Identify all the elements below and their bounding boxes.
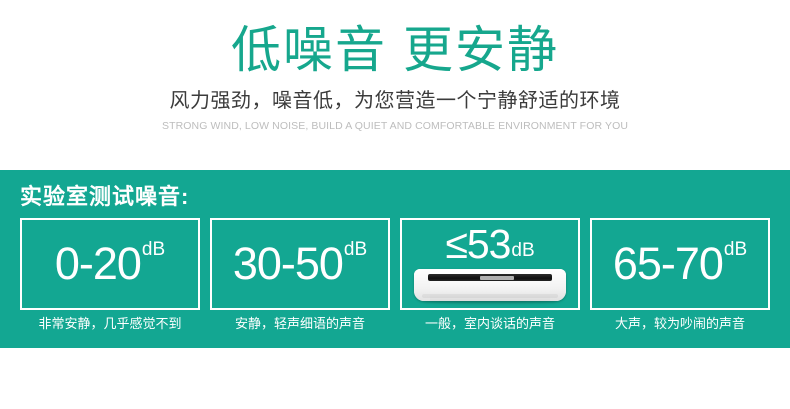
noise-value-group: ≤53 dB <box>445 221 534 267</box>
banner-title: 实验室测试噪音: <box>20 182 189 212</box>
noise-caption: 一般，室内谈话的声音 <box>425 315 555 333</box>
noise-unit: dB <box>344 238 367 262</box>
noise-caption: 非常安静，几乎感觉不到 <box>38 315 181 333</box>
noise-value-group: 65-70 dB <box>613 236 747 292</box>
noise-value-group: 0-20 dB <box>55 236 165 292</box>
device-air-vent <box>422 294 558 298</box>
noise-value: 0-20 <box>55 236 141 292</box>
noise-level-card-list: 0-20 dB 非常安静，几乎感觉不到 30-50 dB 安静，轻声细语的声音 <box>20 218 770 338</box>
noise-unit: dB <box>511 239 534 263</box>
noise-value-box: ≤53 dB <box>400 218 580 310</box>
device-brand-logo <box>480 276 514 280</box>
device-body <box>414 269 566 301</box>
noise-level-banner: 实验室测试噪音: 0-20 dB 非常安静，几乎感觉不到 30-50 dB <box>0 170 790 348</box>
subtitle-english: STRONG WIND, LOW NOISE, BUILD A QUIET AN… <box>0 119 790 133</box>
noise-caption: 大声，较为吵闹的声音 <box>615 315 745 333</box>
footer-whitespace <box>0 348 790 409</box>
noise-caption: 安静，轻声细语的声音 <box>235 315 365 333</box>
noise-unit: dB <box>724 238 747 262</box>
noise-value: 65-70 <box>613 236 723 292</box>
device-display-strip <box>428 274 552 281</box>
air-conditioner-icon <box>414 269 566 305</box>
noise-value-box: 65-70 dB <box>590 218 770 310</box>
header-section: 低噪音 更安静 风力强劲，噪音低，为您营造一个宁静舒适的环境 STRONG WI… <box>0 0 790 170</box>
noise-value: ≤53 <box>445 221 510 267</box>
noise-value: 30-50 <box>233 236 343 292</box>
noise-value-box: 30-50 dB <box>210 218 390 310</box>
noise-level-card: 0-20 dB 非常安静，几乎感觉不到 <box>20 218 200 338</box>
noise-unit: dB <box>142 238 165 262</box>
noise-value-box: 0-20 dB <box>20 218 200 310</box>
noise-level-card: 30-50 dB 安静，轻声细语的声音 <box>210 218 390 338</box>
noise-value-group: 30-50 dB <box>233 236 367 292</box>
subtitle-chinese: 风力强劲，噪音低，为您营造一个宁静舒适的环境 <box>0 88 790 114</box>
noise-level-card: 65-70 dB 大声，较为吵闹的声音 <box>590 218 770 338</box>
noise-level-card: ≤53 dB <box>400 218 580 338</box>
page-title: 低噪音 更安静 <box>0 20 790 80</box>
promo-page: 低噪音 更安静 风力强劲，噪音低，为您营造一个宁静舒适的环境 STRONG WI… <box>0 0 790 409</box>
